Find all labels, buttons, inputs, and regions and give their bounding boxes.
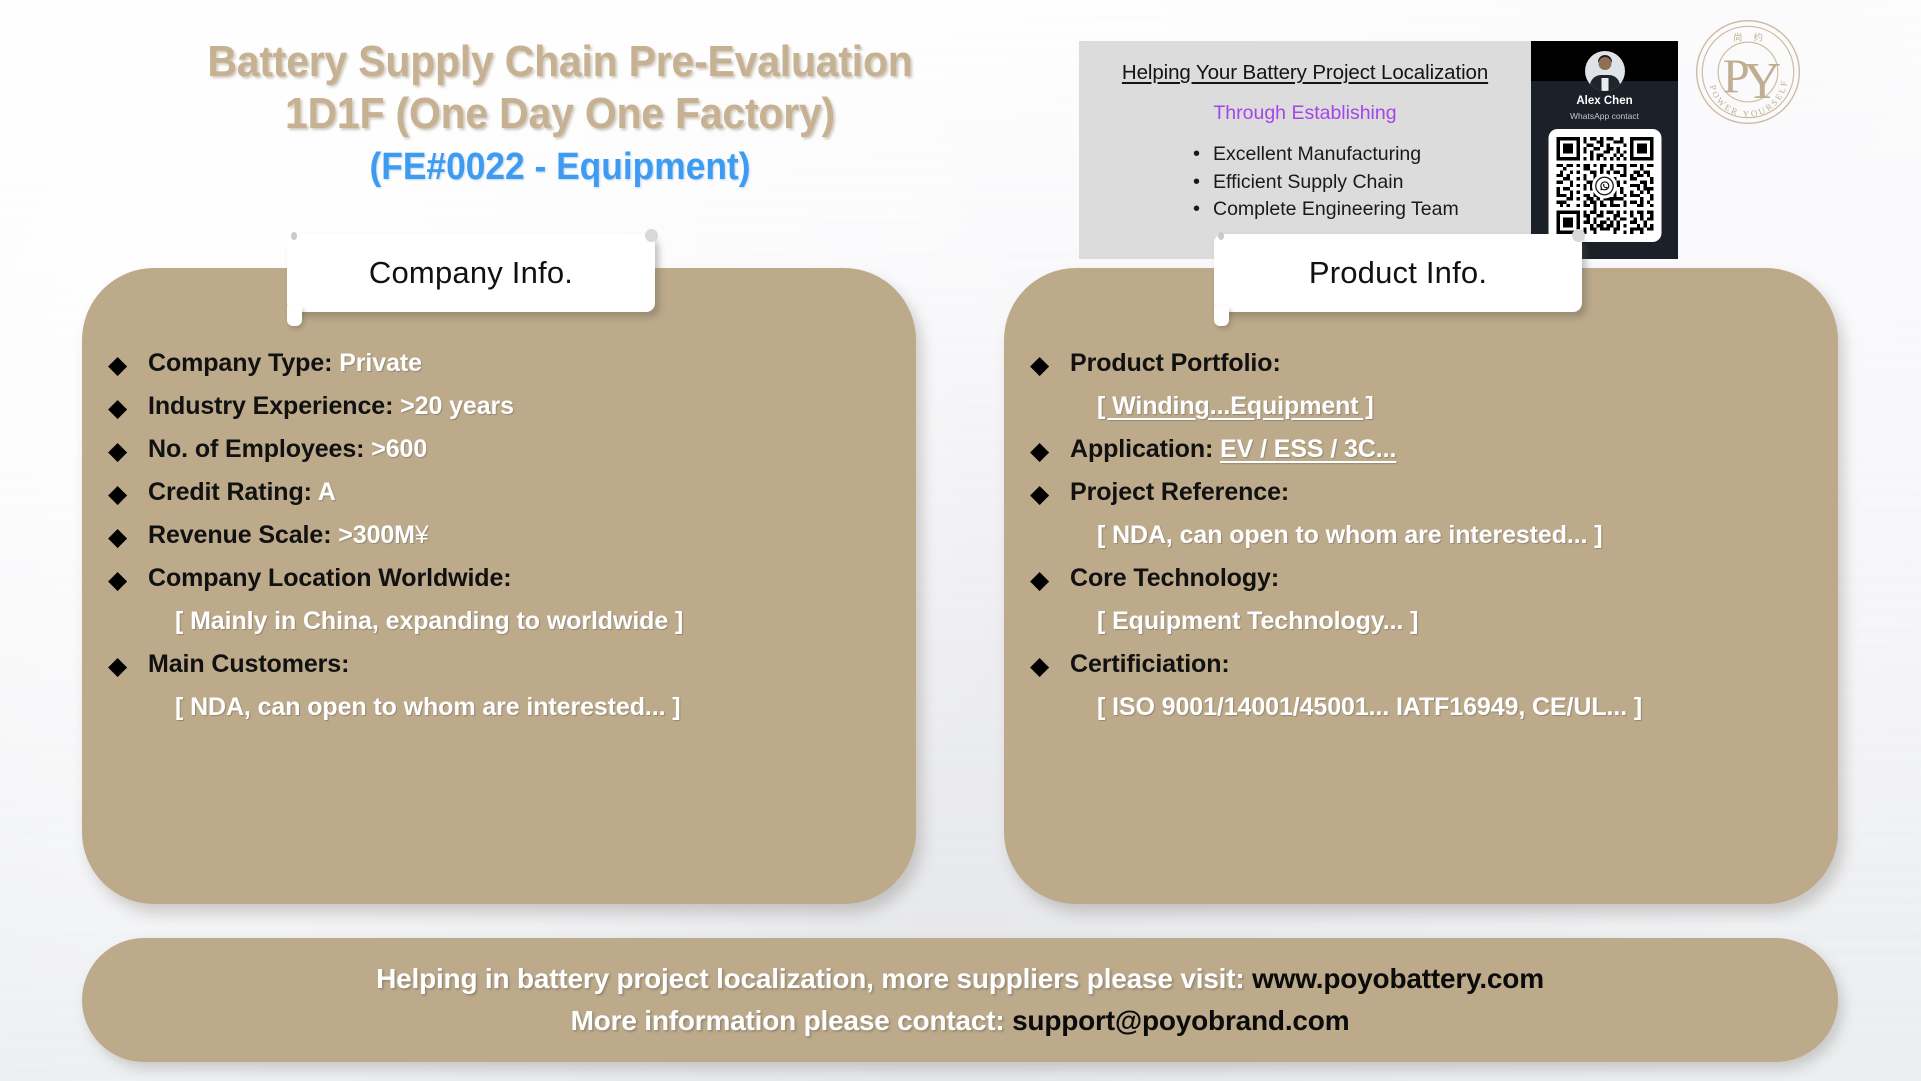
product-info-panel: Product Info. ◆Product Portfolio:[ Windi… [1004,268,1838,904]
list-item-continuation: [ NDA, can open to whom are interested..… [1030,522,1806,552]
footer-email-link[interactable]: support@poyobrand.com [1012,1005,1349,1036]
list-item-value: [ ISO 9001/14001/45001... IATF16949, CE/… [1097,693,1642,721]
list-item-value: Private [339,349,422,377]
title-line-1: Battery Supply Chain Pre-Evaluation [95,36,1025,88]
list-item: ◆Credit Rating: A [108,479,884,509]
list-item-value: [ NDA, can open to whom are interested..… [1097,521,1603,549]
list-item-text: Application: EV / ESS / 3C... [1070,436,1396,464]
list-item-value-link[interactable]: EV / ESS / 3C... [1220,435,1396,463]
company-info-panel: Company Info. ◆Company Type: Private◆Ind… [82,268,916,904]
svg-text:Y: Y [1743,52,1781,110]
list-item-text: [ Mainly in China, expanding to worldwid… [175,608,683,636]
diamond-bullet-icon: ◆ [1030,651,1070,679]
list-item-continuation: [ Equipment Technology... ] [1030,608,1806,638]
list-item-label: Product Portfolio: [1070,349,1281,377]
list-item: Excellent Manufacturing [1193,141,1513,169]
list-item-text: No. of Employees: >600 [148,436,427,464]
diamond-bullet-icon: ◆ [1030,350,1070,378]
currency-symbol: ¥ [415,521,429,549]
list-item-text: [ Equipment Technology... ] [1097,608,1418,636]
tab-pin-left-icon [1218,232,1224,240]
list-item-value: [ Equipment Technology... ] [1097,607,1418,635]
avatar [1585,51,1625,91]
list-item-label: Certificiation: [1070,650,1230,678]
contact-role: WhatsApp contact [1531,111,1678,121]
diamond-bullet-icon: ◆ [1030,436,1070,464]
pitch-headline: Helping Your Battery Project Localizatio… [1097,61,1513,85]
list-item: ◆Main Customers: [108,651,884,681]
list-item-text: Company Type: Private [148,350,422,378]
pitch-list: Excellent Manufacturing Efficient Supply… [1193,141,1513,224]
list-item: Complete Engineering Team [1193,196,1513,224]
qr-code[interactable] [1548,129,1661,242]
svg-text:约: 约 [1754,31,1763,43]
list-item-text: Main Customers: [148,651,349,679]
list-item: ◆Revenue Scale: >300M¥ [108,522,884,552]
list-item-text: Certificiation: [1070,651,1230,679]
footer-website-link[interactable]: www.poyobattery.com [1252,963,1544,994]
tab-pin-right-icon [1572,229,1585,242]
diamond-bullet-icon: ◆ [1030,479,1070,507]
product-info-list: ◆Product Portfolio:[ Winding...Equipment… [1004,350,1838,737]
tab-company-info[interactable]: Company Info. [287,234,655,312]
tab-foot-notch [287,306,302,326]
list-item-value: >600 [371,435,427,463]
list-item-value: >20 years [400,392,514,420]
list-item-text: Industry Experience: >20 years [148,393,514,421]
list-item-value: [ Mainly in China, expanding to worldwid… [175,607,683,635]
list-item: ◆No. of Employees: >600 [108,436,884,466]
diamond-bullet-icon: ◆ [108,522,148,550]
list-item-label: Company Type: [148,349,339,377]
page-title: Battery Supply Chain Pre-Evaluation 1D1F… [60,36,1060,195]
list-item: ◆Company Location Worldwide: [108,565,884,595]
tab-foot-notch [1214,306,1229,326]
company-info-list: ◆Company Type: Private◆Industry Experien… [82,350,916,737]
list-item-text: Core Technology: [1070,565,1279,593]
list-item-text: [ NDA, can open to whom are interested..… [1097,522,1603,550]
list-item-continuation: [ Winding...Equipment ] [1030,393,1806,423]
title-subtitle: (FE#0022 - Equipment) [95,140,1025,195]
list-item: ◆Application: EV / ESS / 3C... [1030,436,1806,466]
list-item: Efficient Supply Chain [1193,169,1513,197]
list-item-text: Revenue Scale: >300M¥ [148,522,429,550]
diamond-bullet-icon: ◆ [108,350,148,378]
list-item: ◆Certificiation: [1030,651,1806,681]
list-item-label: Industry Experience: [148,392,400,420]
list-item-value: A [318,478,336,506]
list-item-label: Project Reference: [1070,478,1289,506]
list-item: ◆Core Technology: [1030,565,1806,595]
tab-company-info-label: Company Info. [369,255,573,291]
list-item-text: Project Reference: [1070,479,1289,507]
list-item-text: Credit Rating: A [148,479,336,507]
list-item-label: Application: [1070,435,1220,463]
pitch-box: Helping Your Battery Project Localizatio… [1079,41,1531,259]
diamond-bullet-icon: ◆ [108,479,148,507]
tab-pin-right-icon [645,229,658,242]
svg-text:尚: 尚 [1733,31,1742,43]
list-item-value: >300M [338,521,415,549]
diamond-bullet-icon: ◆ [108,436,148,464]
footer-line-2-text: More information please contact: [571,1005,1012,1036]
list-item: ◆Product Portfolio: [1030,350,1806,380]
contact-name: Alex Chen [1531,95,1678,107]
list-item-text: [ NDA, can open to whom are interested..… [175,694,681,722]
diamond-bullet-icon: ◆ [1030,565,1070,593]
contact-card[interactable]: Alex Chen WhatsApp contact [1531,41,1678,259]
diamond-bullet-icon: ◆ [108,565,148,593]
footer-banner: Helping in battery project localization,… [82,938,1838,1062]
py-logo: 尚 约 POWER YOURSELF P Y [1692,16,1804,128]
list-item-value: [ NDA, can open to whom are interested..… [175,693,681,721]
footer-line-2: More information please contact: support… [571,1005,1350,1037]
whatsapp-icon [1592,173,1617,198]
list-item: ◆Project Reference: [1030,479,1806,509]
list-item: ◆Company Type: Private [108,350,884,380]
tab-product-info[interactable]: Product Info. [1214,234,1582,312]
list-item-continuation: [ Mainly in China, expanding to worldwid… [108,608,884,638]
footer-line-1: Helping in battery project localization,… [376,963,1544,995]
list-item-text: Company Location Worldwide: [148,565,512,593]
pitch-subheadline: Through Establishing [1097,102,1513,125]
list-item-text: [ Winding...Equipment ] [1097,393,1374,421]
list-item-text: [ ISO 9001/14001/45001... IATF16949, CE/… [1097,694,1642,722]
list-item: ◆Industry Experience: >20 years [108,393,884,423]
list-item-label: Core Technology: [1070,564,1279,592]
list-item-label: Company Location Worldwide: [148,564,512,592]
list-item-label: Credit Rating: [148,478,318,506]
tab-pin-left-icon [291,232,297,240]
list-item-text: Product Portfolio: [1070,350,1281,378]
diamond-bullet-icon: ◆ [108,651,148,679]
tab-product-info-label: Product Info. [1309,255,1487,291]
list-item-label: Revenue Scale: [148,521,338,549]
list-item-label: No. of Employees: [148,435,371,463]
list-item-label: Main Customers: [148,650,349,678]
footer-line-1-text: Helping in battery project localization,… [376,963,1252,994]
list-item-value-link[interactable]: [ Winding...Equipment ] [1097,392,1374,420]
title-line-2: 1D1F (One Day One Factory) [95,88,1025,140]
diamond-bullet-icon: ◆ [108,393,148,421]
list-item-continuation: [ NDA, can open to whom are interested..… [108,694,884,724]
list-item-continuation: [ ISO 9001/14001/45001... IATF16949, CE/… [1030,694,1806,724]
